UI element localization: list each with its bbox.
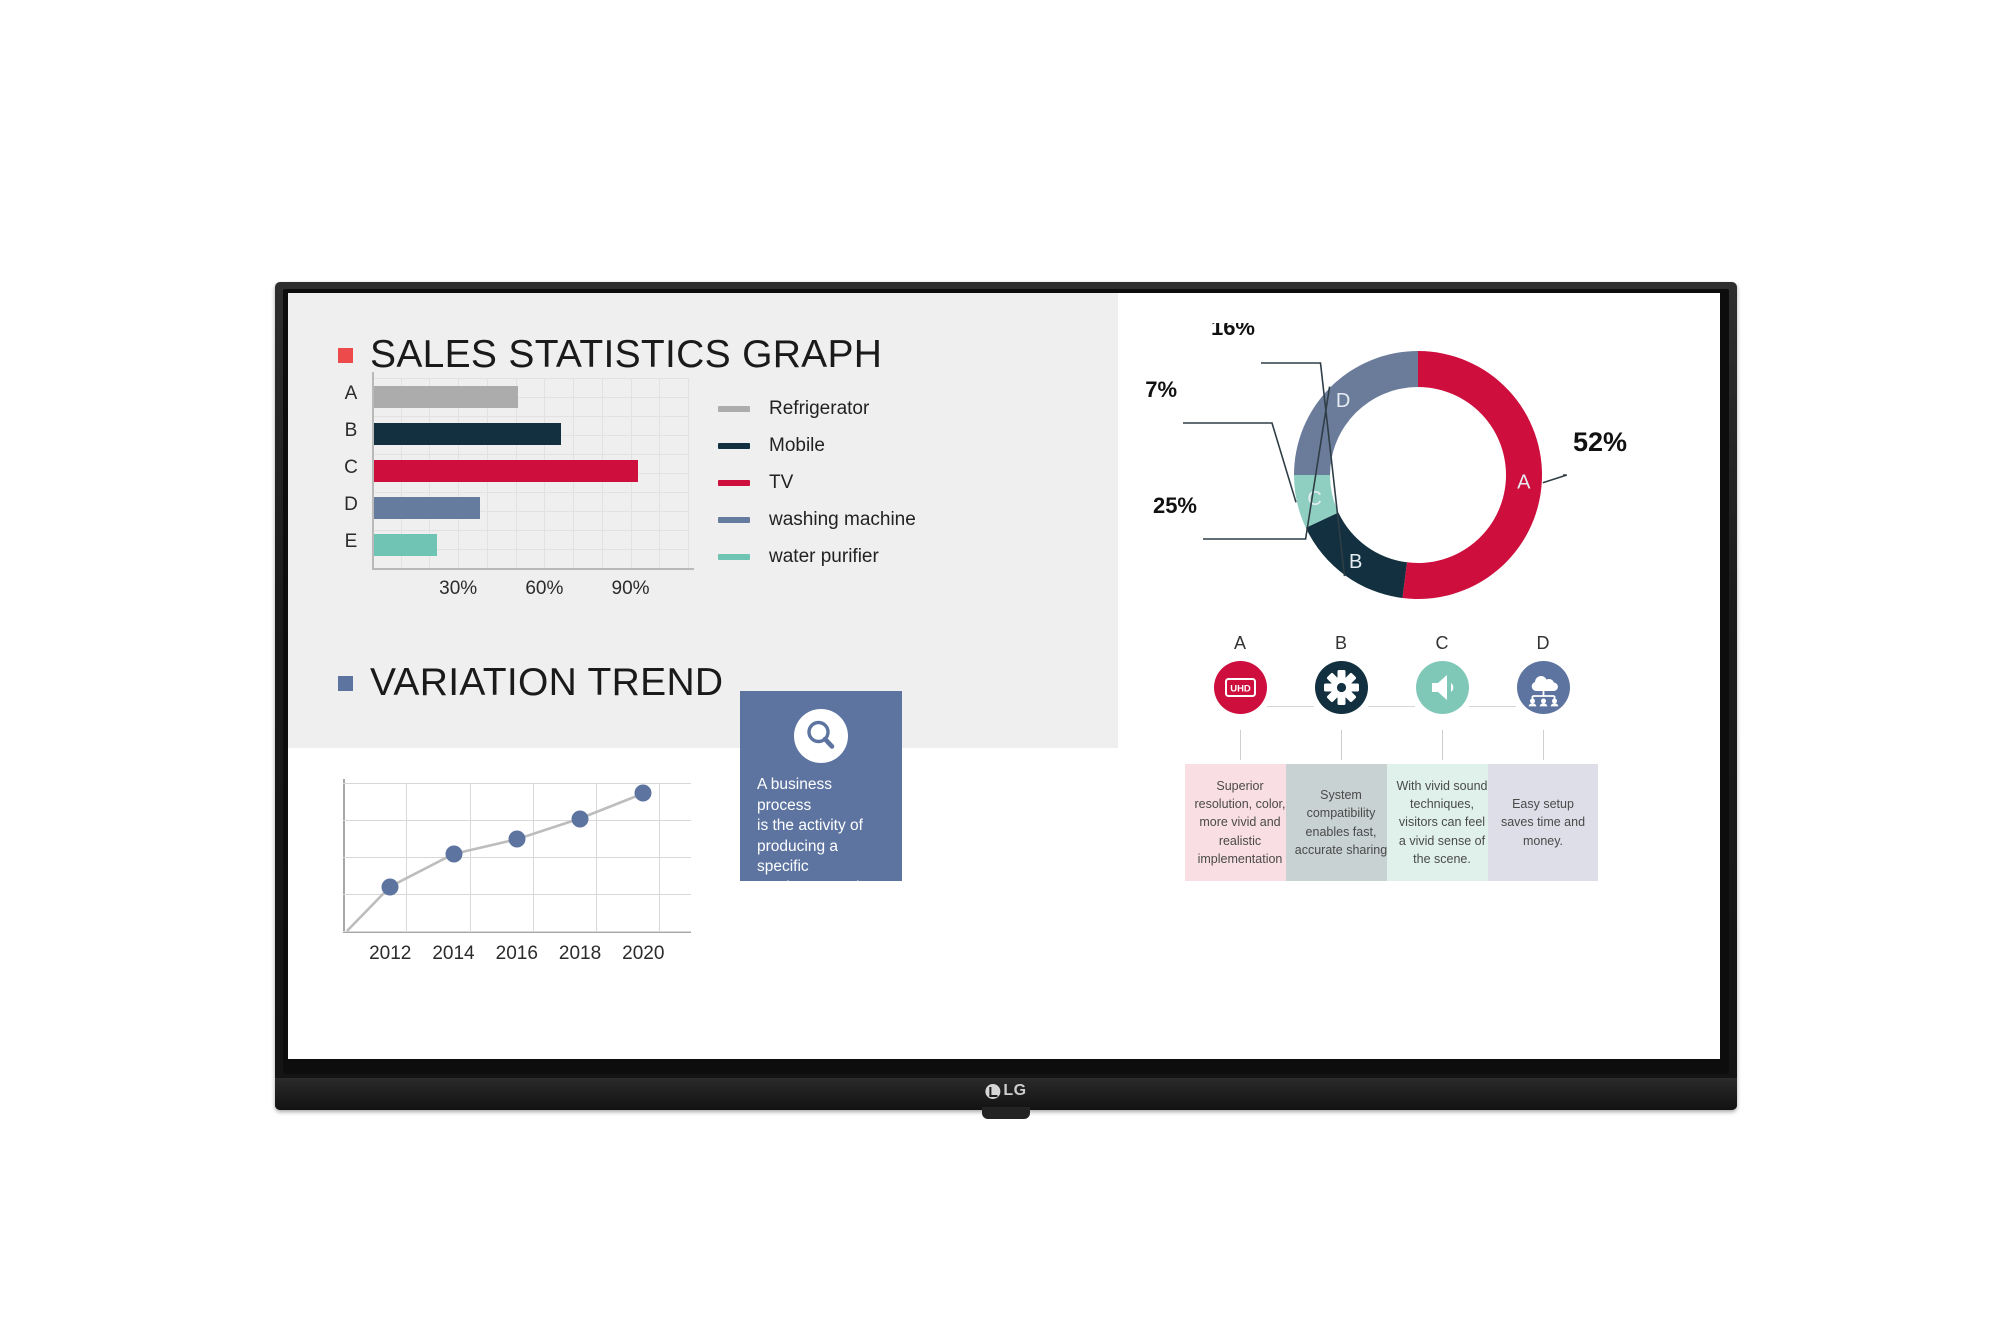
donut-percentage-label: 16% (1211, 323, 1255, 340)
bar-gridline-h (372, 378, 688, 379)
feature-letter: B (1286, 633, 1396, 654)
feature-letter: A (1185, 633, 1295, 654)
bar-chart-bar (374, 497, 480, 519)
info-card-line: is the activity of (757, 816, 885, 837)
line-chart-series-path (343, 783, 733, 943)
bar-x-tick: 90% (612, 578, 650, 600)
donut-leader-line (1543, 475, 1567, 483)
sales-title-text: SALES STATISTICS GRAPH (370, 333, 882, 377)
line-data-point (508, 831, 525, 848)
line-chart-y-axis (343, 779, 345, 931)
legend-item: Mobile (718, 435, 825, 457)
bar-gridline-h (372, 454, 688, 455)
legend-swatch-icon (718, 517, 750, 523)
donut-svg: 52%A16%B7%C25%D (1143, 323, 1703, 628)
bar-category-label: A (338, 383, 364, 405)
info-card-line: for a customer. (757, 899, 885, 920)
donut-slice-letter: A (1517, 472, 1531, 494)
legend-label: Mobile (769, 435, 825, 457)
legend-label: washing machine (769, 509, 916, 531)
donut-percentage-label: 52% (1573, 427, 1627, 457)
legend-swatch-icon (718, 443, 750, 449)
feature-item: AUHDSuperior resolution, color, more viv… (1185, 633, 1295, 714)
lg-circle-mark-icon (985, 1084, 1000, 1099)
variation-title-text: VARIATION TREND (370, 661, 723, 705)
variation-trend-line-chart: 20122014201620182020 (343, 783, 733, 968)
gear-icon[interactable] (1315, 661, 1368, 714)
feature-stem (1442, 730, 1443, 760)
bar-chart-bar (374, 423, 561, 445)
line-gridline-h (343, 857, 691, 858)
line-data-point (635, 785, 652, 802)
legend-swatch-icon (718, 480, 750, 486)
bar-category-label: B (338, 420, 364, 442)
bar-gridline-v (688, 378, 689, 568)
donut-percentage-label: 25% (1153, 493, 1197, 518)
feature-caption-box: Easy setup saves time and money. (1488, 764, 1598, 881)
donut-percentage-label: 7% (1145, 377, 1177, 402)
line-data-point (572, 810, 589, 827)
line-x-tick: 2016 (496, 943, 538, 965)
info-card-text: A business processis the activity ofprod… (757, 775, 885, 919)
feature-letter: D (1488, 633, 1598, 654)
svg-text:UHD: UHD (1230, 684, 1251, 695)
bar-chart-x-axis (372, 568, 694, 570)
tv-stand-nub (982, 1107, 1030, 1119)
feature-caption-box: With vivid sound techniques, visitors ca… (1387, 764, 1497, 881)
bar-category-label: E (338, 531, 364, 553)
line-gridline-h (343, 820, 691, 821)
donut-slice-letter: D (1336, 390, 1350, 412)
legend-label: Refrigerator (769, 398, 869, 420)
bar-chart-bar (374, 460, 638, 482)
feature-stem (1341, 730, 1342, 760)
variation-section-title: VARIATION TREND (338, 661, 723, 705)
sales-statistics-bar-chart: ABCDE 30%60%90% (338, 378, 688, 593)
legend-swatch-icon (718, 554, 750, 560)
line-x-tick: 2020 (622, 943, 664, 965)
feature-caption-text: Easy setup saves time and money. (1495, 795, 1591, 849)
feature-item: CWith vivid sound techniques, visitors c… (1387, 633, 1497, 714)
line-data-point (382, 878, 399, 895)
feature-item: BSystem compatibility enables fast, accu… (1286, 633, 1396, 714)
donut-slice (1294, 351, 1418, 475)
line-x-tick: 2012 (369, 943, 411, 965)
feature-caption-box: Superior resolution, color, more vivid a… (1185, 764, 1295, 881)
legend-label: TV (769, 472, 793, 494)
speaker-icon[interactable] (1416, 661, 1469, 714)
lg-brand-logo: LG (985, 1082, 1026, 1100)
legend-item: water purifier (718, 546, 879, 568)
feature-item: DEasy setup saves time and money. (1488, 633, 1598, 714)
sales-section-title: SALES STATISTICS GRAPH (338, 333, 882, 377)
line-gridline-h (343, 931, 691, 932)
bar-category-label: D (338, 494, 364, 516)
donut-slice-letter: C (1307, 488, 1321, 510)
bar-gridline-h (372, 492, 688, 493)
legend-label: water purifier (769, 546, 879, 568)
line-x-tick: 2014 (432, 943, 474, 965)
info-card-line: producing a specific (757, 837, 885, 878)
legend-item: TV (718, 472, 793, 494)
feature-caption-text: Superior resolution, color, more vivid a… (1192, 777, 1288, 868)
bar-category-label: C (338, 457, 364, 479)
legend-item: Refrigerator (718, 398, 869, 420)
bar-x-tick: 30% (439, 578, 477, 600)
bar-gridline-h (372, 530, 688, 531)
bar-chart-bar (374, 386, 518, 408)
cloud-network-icon[interactable] (1517, 661, 1570, 714)
screenshot-root: SALES STATISTICS GRAPH ABCDE 30%60%90% R… (0, 0, 2010, 1334)
feature-caption-text: System compatibility enables fast, accur… (1293, 786, 1389, 859)
info-card-line: service or product (757, 878, 885, 899)
feature-caption-text: With vivid sound techniques, visitors ca… (1394, 777, 1490, 868)
lg-wordmark: LG (1003, 1082, 1026, 1100)
feature-caption-box: System compatibility enables fast, accur… (1286, 764, 1396, 881)
bar-gridline-h (372, 416, 688, 417)
feature-letter: C (1387, 633, 1497, 654)
line-gridline-h (343, 894, 691, 895)
business-process-info-card: A business processis the activity ofprod… (740, 691, 902, 881)
share-donut-chart: 52%A16%B7%C25%D (1143, 323, 1703, 628)
line-data-point (445, 846, 462, 863)
donut-leader-line (1183, 423, 1296, 502)
feature-highlights: AUHDSuperior resolution, color, more viv… (1143, 633, 1703, 853)
bar-x-tick: 60% (525, 578, 563, 600)
line-x-tick: 2018 (559, 943, 601, 965)
feature-stem (1543, 730, 1544, 760)
bar-chart-bar (374, 534, 437, 556)
tv-bottom-bezel: LG (275, 1078, 1737, 1110)
lg-television: SALES STATISTICS GRAPH ABCDE 30%60%90% R… (275, 282, 1737, 1110)
magnifier-icon (794, 709, 848, 763)
sales-title-marker-icon (338, 348, 353, 363)
tv-screen: SALES STATISTICS GRAPH ABCDE 30%60%90% R… (288, 293, 1720, 1059)
info-card-line: A business process (757, 775, 885, 816)
legend-item: washing machine (718, 509, 916, 531)
uhd-badge-icon[interactable]: UHD (1214, 661, 1267, 714)
line-gridline-h (343, 783, 691, 784)
feature-stem (1240, 730, 1241, 760)
variation-title-marker-icon (338, 676, 353, 691)
donut-slice-letter: B (1349, 551, 1362, 573)
legend-swatch-icon (718, 406, 750, 412)
